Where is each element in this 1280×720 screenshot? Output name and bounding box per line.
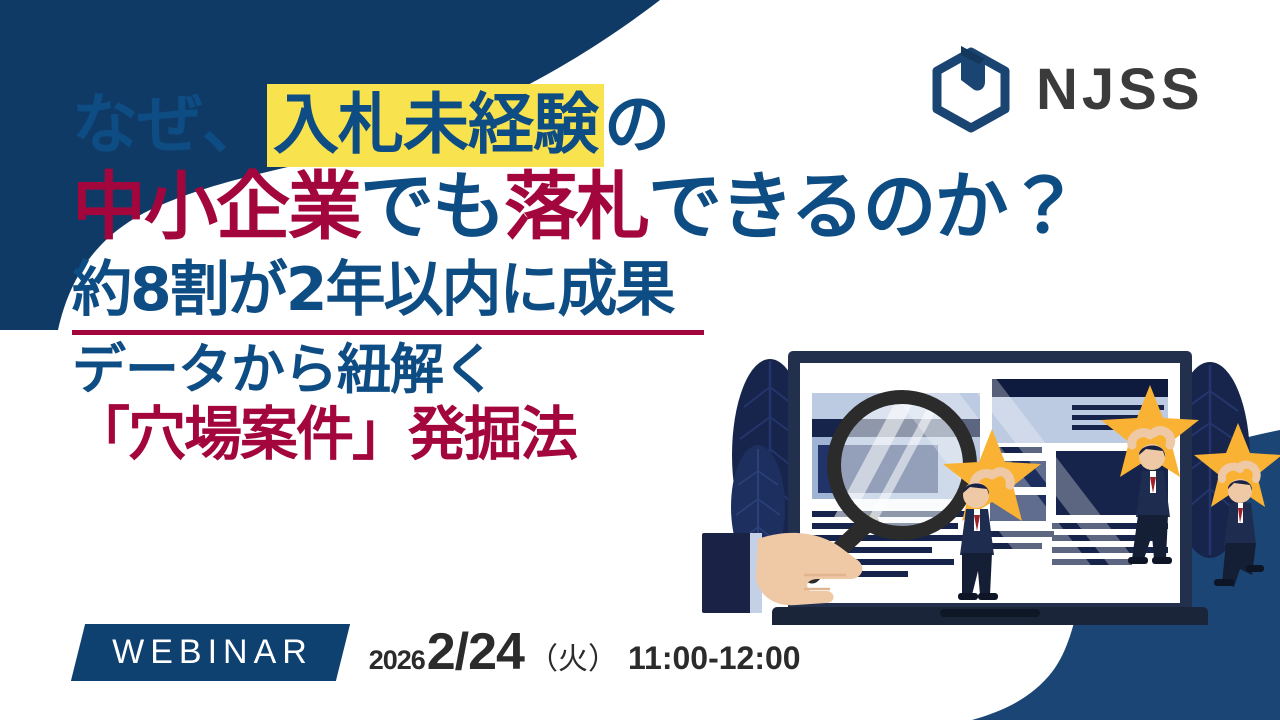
crimson-divider [72,330,704,335]
webinar-banner: NJSS なぜ、入札未経験の 中小企業でも落札できるのか？ 約8割が2年以内に成… [0,0,1280,720]
event-time-range: 11:00-12:00 [620,640,801,677]
headline-line-2-part-2: でも [360,164,504,250]
webinar-badge: WEBINAR [71,624,350,681]
headline-line-1: なぜ、入札未経験の [72,92,1152,158]
headline-line-2-part-4: できるのか？ [648,164,1079,250]
event-datetime: 2026 2/24 （火） 11:00-12:00 [369,622,801,682]
event-year: 2026 [369,645,425,676]
headline-line-1-suffix: の [604,86,669,163]
headline-line-2: 中小企業でも落札できるのか？ [72,170,1152,244]
headline-line-3: 約8割が2年以内に成果 [72,260,1152,320]
event-day-of-week: （火） [526,634,620,678]
headline-line-2-part-1: 中小企業 [72,164,360,250]
bottom-info-bar: WEBINAR 2026 2/24 （火） 11:00-12:00 [78,622,801,682]
laptop-search-stars-illustration [700,325,1280,625]
headline-line-2-part-3: 落札 [504,164,648,250]
headline-highlight-keyword: 入札未経験 [267,84,604,167]
webinar-badge-label: WEBINAR [112,635,313,669]
headline-line-1-prefix: なぜ、 [72,86,267,163]
event-month-day: 2/24 [425,622,526,682]
